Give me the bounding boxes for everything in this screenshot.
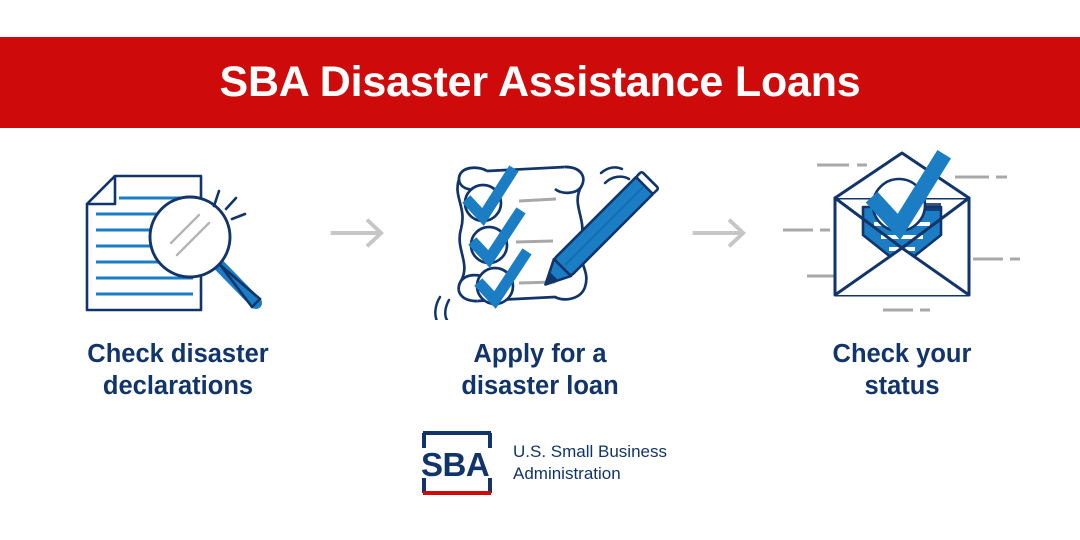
step-1-artwork <box>53 145 303 320</box>
step-apply-for-disaster-loan: Apply for a disaster loan <box>402 145 678 402</box>
connector-2 <box>678 145 764 320</box>
sba-logo: SBA U.S. Small Business Administration <box>0 428 1080 498</box>
step-3-artwork <box>777 145 1027 320</box>
step-3-label: Check your status <box>833 338 972 402</box>
step-2-artwork <box>415 145 665 320</box>
step-check-your-status: Check your status <box>764 145 1040 402</box>
scroll-checklist-pencil-icon <box>415 145 665 320</box>
step-2-label: Apply for a disaster loan <box>461 338 618 402</box>
header-banner: SBA Disaster Assistance Loans <box>0 37 1080 128</box>
agency-name: U.S. Small Business Administration <box>513 441 667 486</box>
envelope-check-icon <box>777 145 1027 320</box>
step-check-disaster-declarations: Check disaster declarations <box>40 145 316 402</box>
sba-logo-mark: SBA <box>413 428 501 498</box>
page-title: SBA Disaster Assistance Loans <box>219 61 860 104</box>
steps-row: Check disaster declarations <box>0 145 1080 405</box>
sba-wordmark: SBA <box>421 446 489 483</box>
arrow-right-icon <box>328 215 390 251</box>
document-magnifier-icon <box>53 145 303 320</box>
arrow-right-icon <box>690 215 752 251</box>
connector-1 <box>316 145 402 320</box>
step-1-label: Check disaster declarations <box>87 338 268 402</box>
